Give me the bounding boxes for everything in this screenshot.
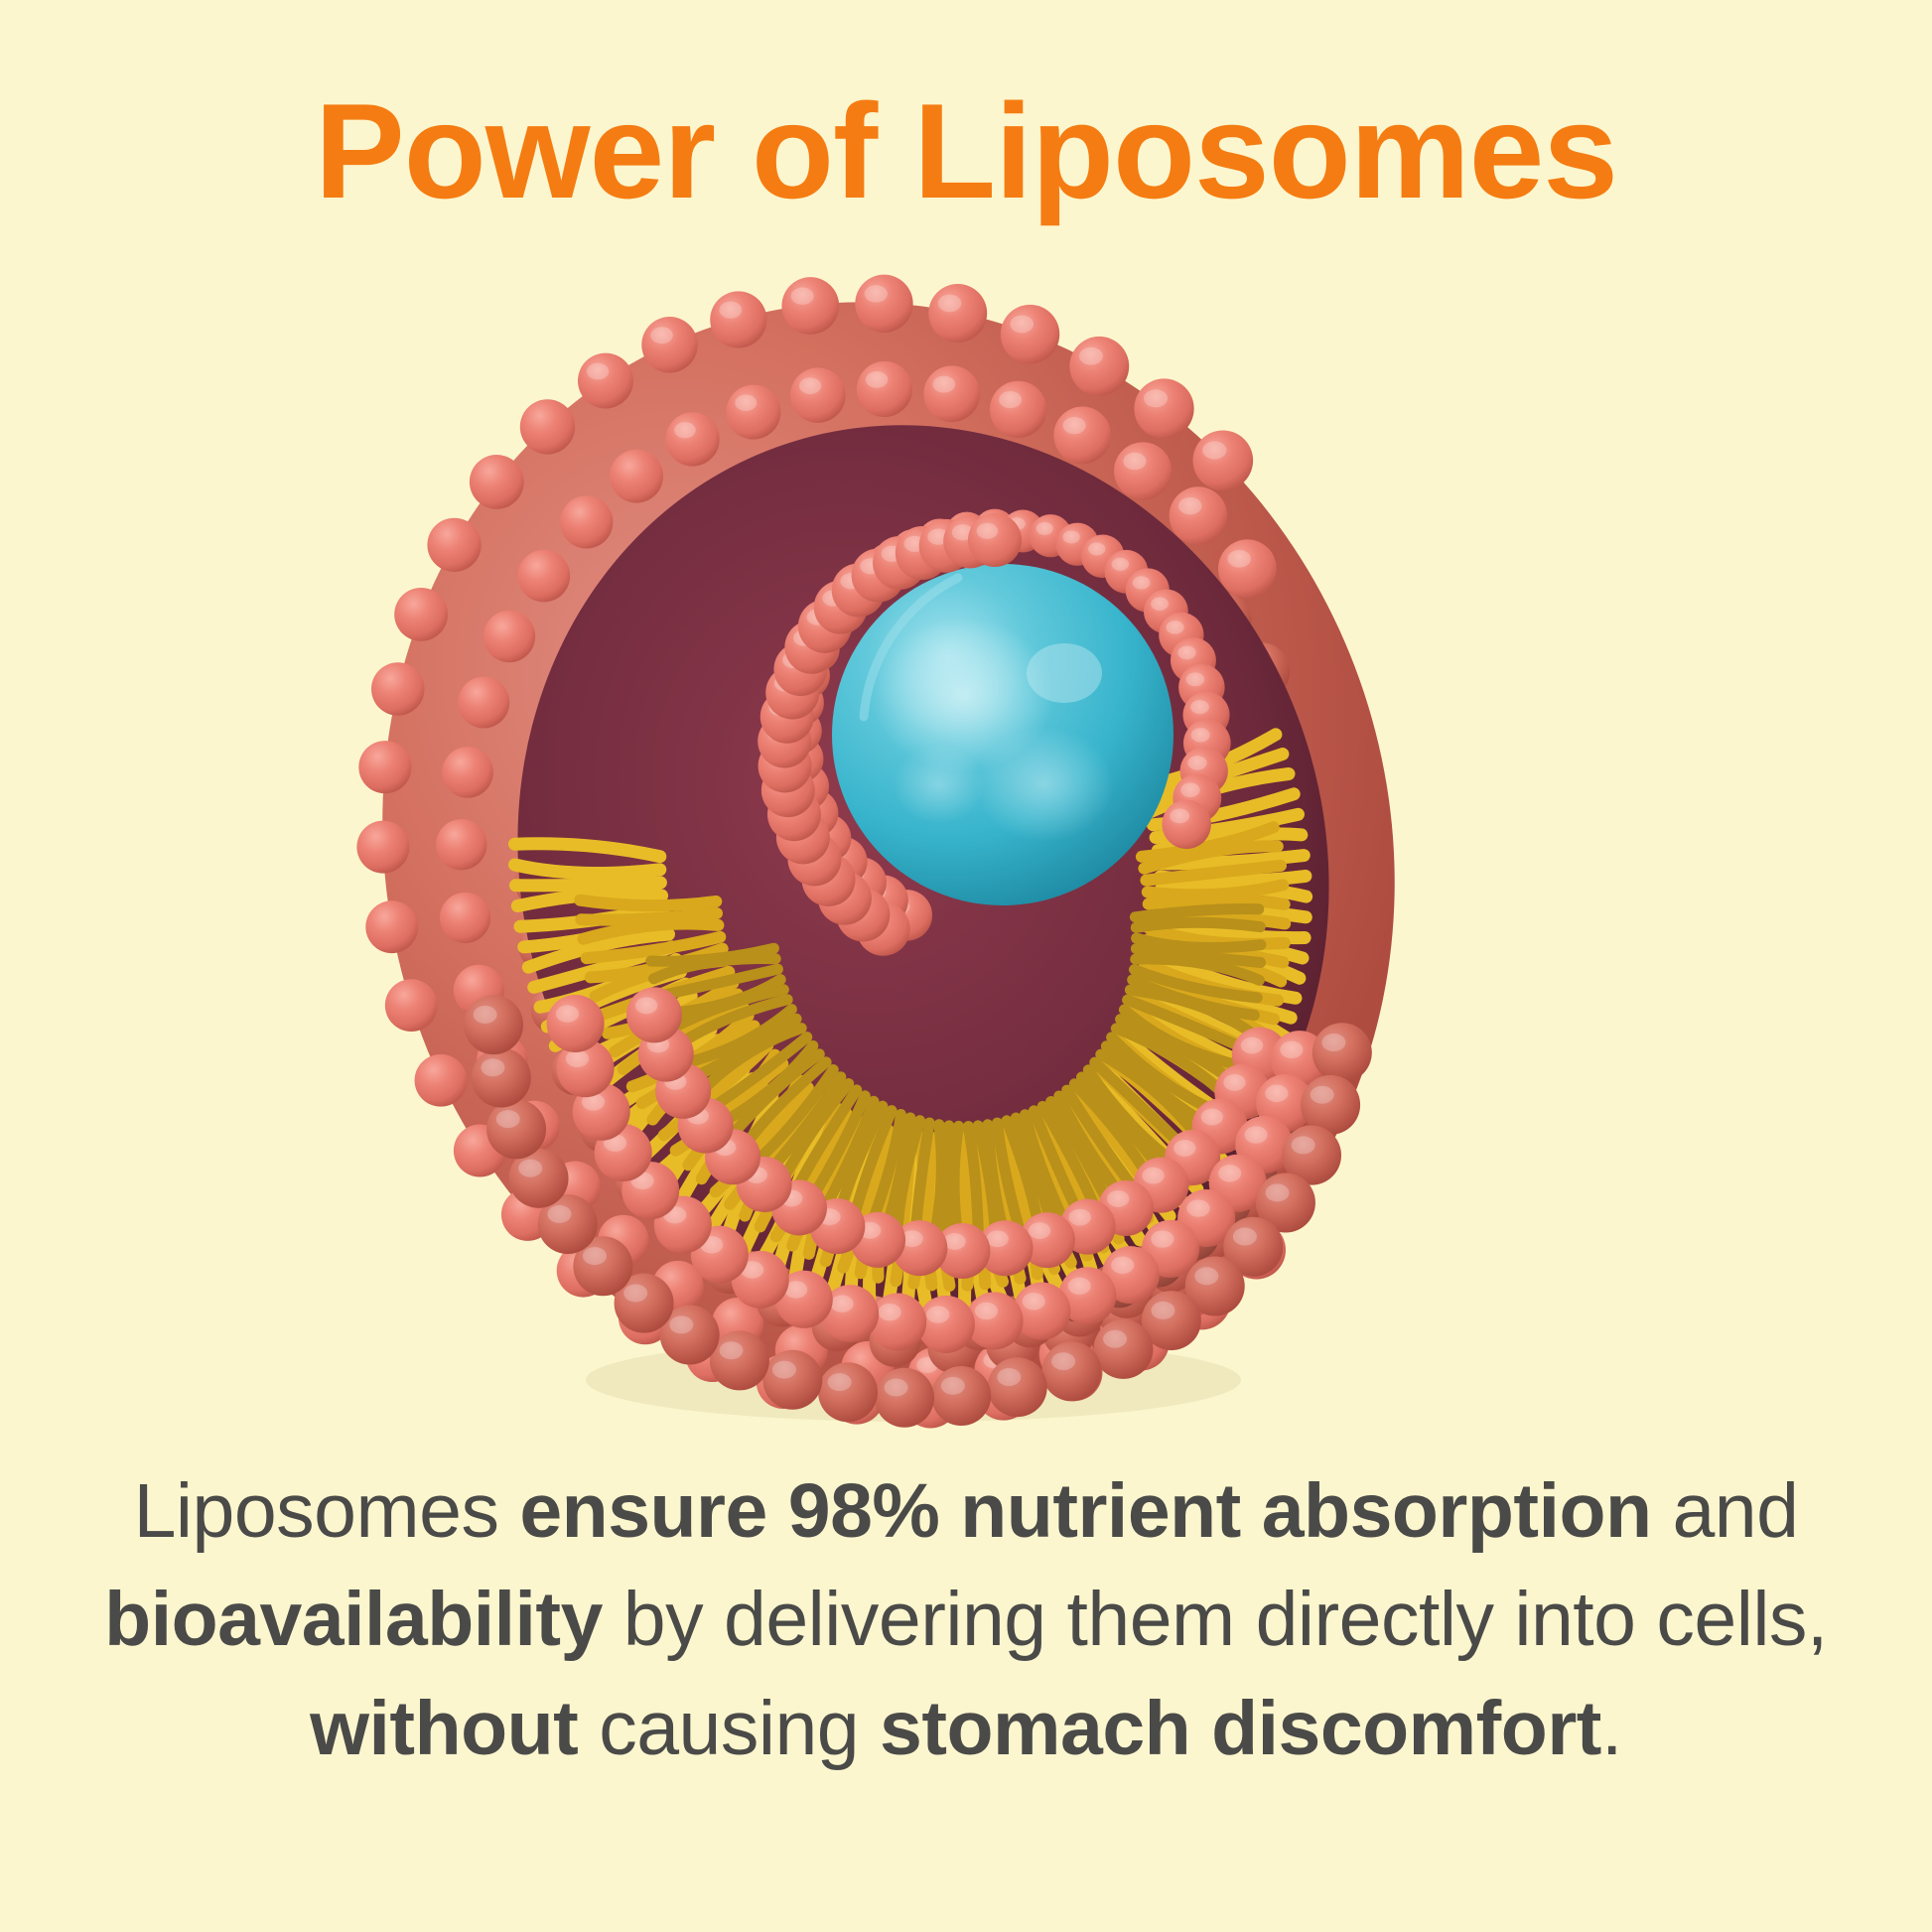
bead-highlight: [926, 1306, 949, 1322]
bead-highlight: [1191, 728, 1210, 742]
caption-line-2: bioavailability by delivering them direc…: [72, 1566, 1860, 1674]
bead-highlight: [1051, 1352, 1075, 1370]
caption-segment-2-2: by delivering them directly into cells,: [603, 1577, 1828, 1662]
head-group-bead: [857, 361, 912, 417]
head-group-bead: [610, 450, 663, 503]
bead-highlight: [941, 1377, 965, 1395]
bead-highlight: [1186, 672, 1205, 686]
bead-highlight: [772, 1361, 796, 1379]
bead-highlight: [1186, 1199, 1209, 1216]
caption-segment-1-2: ensure 98% nutrient absorption: [519, 1468, 1651, 1554]
head-group-bead: [1170, 486, 1228, 545]
lipid-tail-strand: [1136, 922, 1260, 927]
head-group-bead: [371, 662, 424, 715]
head-group-bead: [547, 995, 605, 1052]
bead-highlight: [1029, 1222, 1050, 1239]
head-group-bead: [990, 381, 1046, 438]
head-group-bead: [988, 1357, 1047, 1417]
head-group-bead: [458, 677, 509, 729]
lipid-tail-strand: [516, 883, 661, 886]
bead-highlight: [1151, 598, 1169, 611]
caption-segment-3-2: causing: [578, 1686, 880, 1771]
caption-segment-3-3: stomach discomfort: [880, 1686, 1601, 1771]
bead-highlight: [1218, 1165, 1241, 1181]
bead-highlight: [938, 295, 962, 313]
bead-highlight: [735, 394, 757, 410]
bead-highlight: [799, 377, 821, 394]
head-group-bead: [472, 1047, 531, 1107]
bead-highlight: [1265, 1085, 1288, 1102]
head-group-bead: [1162, 800, 1210, 849]
head-group-bead: [818, 1362, 878, 1422]
bead-highlight: [1133, 576, 1151, 589]
head-group-bead: [1013, 1283, 1070, 1340]
bead-highlight: [1201, 1109, 1223, 1126]
bead-highlight: [1227, 550, 1251, 568]
head-group-bead: [385, 979, 438, 1032]
bead-highlight: [1321, 1034, 1345, 1051]
bead-highlight: [866, 371, 888, 388]
bead-highlight: [1144, 389, 1168, 407]
bead-highlight: [1190, 700, 1209, 714]
aqueous-core-payload: [832, 564, 1173, 905]
bead-highlight: [1142, 1168, 1164, 1184]
head-group-bead: [436, 819, 486, 870]
caption-text: Liposomes ensure 98% nutrient absorption…: [72, 1457, 1860, 1783]
bead-highlight: [556, 1005, 579, 1022]
bead-highlight: [975, 1303, 998, 1319]
head-group-bead: [710, 291, 766, 347]
head-group-bead: [1069, 337, 1129, 396]
bead-highlight: [1223, 1074, 1245, 1091]
bead-highlight: [1233, 1228, 1257, 1246]
bead-highlight: [1107, 1190, 1129, 1207]
bead-highlight: [583, 1247, 607, 1265]
bead-highlight: [1069, 1209, 1091, 1226]
head-group-bead: [394, 588, 448, 641]
bead-highlight: [986, 1230, 1008, 1247]
head-group-bead: [1192, 430, 1253, 490]
bead-highlight: [1151, 1302, 1174, 1319]
bead-highlight: [1311, 1086, 1334, 1104]
head-group-bead: [626, 987, 682, 1042]
bead-highlight: [1151, 1230, 1173, 1247]
bead-highlight: [719, 1341, 743, 1359]
bead-highlight: [1079, 347, 1103, 365]
head-group-bead: [968, 513, 1022, 567]
bead-highlight: [1266, 1183, 1290, 1201]
head-group-bead: [470, 455, 524, 509]
bead-highlight: [1123, 453, 1146, 470]
bead-highlight: [1010, 316, 1034, 334]
caption-segment-1-1: Liposomes: [134, 1468, 520, 1554]
bead-highlight: [547, 1205, 571, 1223]
bead-highlight: [1241, 1037, 1263, 1054]
bead-highlight: [1187, 756, 1206, 769]
head-group-bead: [1134, 378, 1193, 438]
head-group-bead: [486, 1099, 546, 1159]
head-group-bead: [356, 821, 409, 874]
head-group-bead: [427, 518, 481, 572]
liposome-illustration: [328, 268, 1499, 1440]
bead-highlight: [977, 523, 999, 539]
head-group-bead: [726, 385, 780, 440]
bead-highlight: [587, 363, 609, 380]
bead-highlight: [674, 422, 696, 438]
caption-segment-3-1: without: [310, 1686, 578, 1771]
bead-highlight: [1103, 1330, 1127, 1348]
bead-highlight: [865, 285, 888, 302]
head-group-bead: [1001, 305, 1059, 363]
lipid-tail-strand: [1149, 899, 1285, 904]
head-group-bead: [483, 611, 535, 662]
head-group-bead: [875, 1368, 934, 1428]
bead-highlight: [566, 1050, 589, 1067]
bead-highlight: [1112, 558, 1130, 571]
head-group-bead: [1312, 1023, 1372, 1082]
head-group-bead: [1218, 539, 1277, 598]
caption-segment-2-1: bioavailability: [104, 1577, 603, 1662]
head-group-bead: [1053, 407, 1111, 465]
bead-highlight: [1062, 530, 1079, 543]
head-group-bead: [1114, 442, 1172, 499]
bead-highlight: [719, 302, 742, 319]
head-group-bead: [560, 495, 613, 548]
head-group-bead: [855, 275, 912, 333]
bead-highlight: [1292, 1136, 1315, 1154]
page-title: Power of Liposomes: [0, 83, 1932, 218]
bead-highlight: [828, 1373, 852, 1391]
bead-highlight: [1180, 782, 1200, 797]
head-group-bead: [762, 1350, 822, 1410]
head-group-bead: [520, 399, 575, 454]
bead-highlight: [878, 1304, 900, 1320]
bead-highlight: [999, 391, 1022, 408]
head-group-bead: [415, 1054, 468, 1107]
head-group-bead: [517, 550, 570, 603]
bead-highlight: [1023, 1293, 1045, 1310]
head-group-bead: [358, 741, 411, 793]
bead-highlight: [650, 327, 673, 344]
bead-highlight: [518, 1160, 542, 1177]
head-group-bead: [1041, 1341, 1101, 1401]
head-group-bead: [641, 317, 697, 372]
bead-highlight: [1202, 441, 1226, 459]
bead-highlight: [1178, 497, 1201, 515]
head-group-bead: [665, 412, 719, 466]
bead-highlight: [1194, 1267, 1218, 1285]
bead-highlight: [669, 1315, 693, 1333]
head-group-bead: [1093, 1319, 1153, 1379]
bead-highlight: [1244, 1126, 1267, 1143]
bead-highlight: [1036, 522, 1053, 535]
head-group-bead: [442, 747, 493, 798]
bead-highlight: [474, 1006, 497, 1024]
head-group-bead: [578, 353, 633, 409]
head-group-bead: [790, 367, 846, 423]
bead-highlight: [1280, 1041, 1303, 1058]
bead-highlight: [496, 1110, 520, 1128]
caption-segment-1-3: and: [1652, 1468, 1799, 1554]
bead-highlight: [635, 997, 657, 1014]
head-group-bead: [464, 995, 523, 1054]
liposome-cutaway-svg: [328, 268, 1499, 1440]
bead-highlight: [1068, 1278, 1091, 1295]
head-group-bead: [365, 900, 418, 953]
caption-segment-3-4: .: [1601, 1686, 1622, 1771]
bead-highlight: [1173, 1140, 1195, 1157]
lipid-tail-strand: [580, 900, 716, 905]
bead-highlight: [623, 1284, 647, 1302]
bead-highlight: [997, 1368, 1021, 1386]
bead-highlight: [885, 1379, 908, 1397]
bead-highlight: [1170, 808, 1189, 823]
head-group-bead: [781, 277, 839, 335]
lipid-tail-strand: [581, 913, 717, 920]
head-group-bead: [923, 365, 980, 422]
bead-highlight: [932, 376, 955, 393]
head-group-bead: [931, 1366, 991, 1426]
head-group-bead: [440, 893, 490, 943]
bead-highlight: [1177, 646, 1195, 660]
bead-highlight: [791, 288, 814, 305]
head-group-bead: [928, 284, 987, 343]
caption-line-3: without causing stomach discomfort.: [72, 1675, 1860, 1783]
bead-highlight: [830, 1296, 853, 1312]
bead-highlight: [1088, 542, 1105, 555]
bead-highlight: [481, 1058, 504, 1076]
bead-highlight: [1063, 417, 1086, 434]
caption-line-1: Liposomes ensure 98% nutrient absorption…: [72, 1457, 1860, 1566]
bead-highlight: [1166, 621, 1183, 634]
bead-highlight: [1111, 1257, 1134, 1274]
